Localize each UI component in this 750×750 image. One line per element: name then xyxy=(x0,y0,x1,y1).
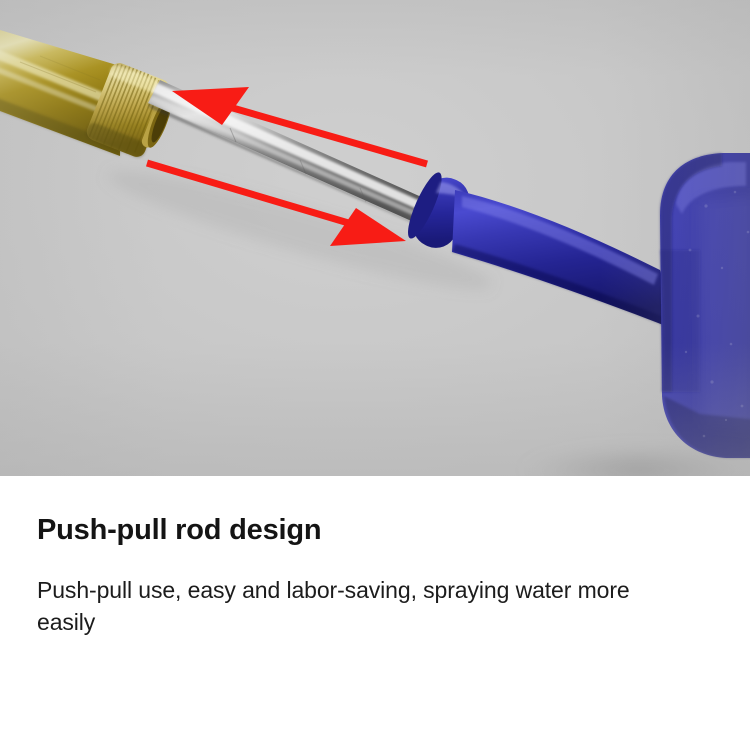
blue-handle xyxy=(402,153,750,458)
blue-handle-shaft xyxy=(452,190,676,330)
product-photo xyxy=(0,0,750,476)
feature-title: Push-pull rod design xyxy=(37,513,321,547)
feature-description: Push-pull use, easy and labor-saving, sp… xyxy=(37,574,637,638)
feature-text-panel: Push-pull rod design Push-pull use, easy… xyxy=(0,476,750,750)
product-feature-card: Push-pull rod design Push-pull use, easy… xyxy=(0,0,750,750)
blue-handle-head xyxy=(660,153,750,458)
product-photo-illustration xyxy=(0,0,750,476)
